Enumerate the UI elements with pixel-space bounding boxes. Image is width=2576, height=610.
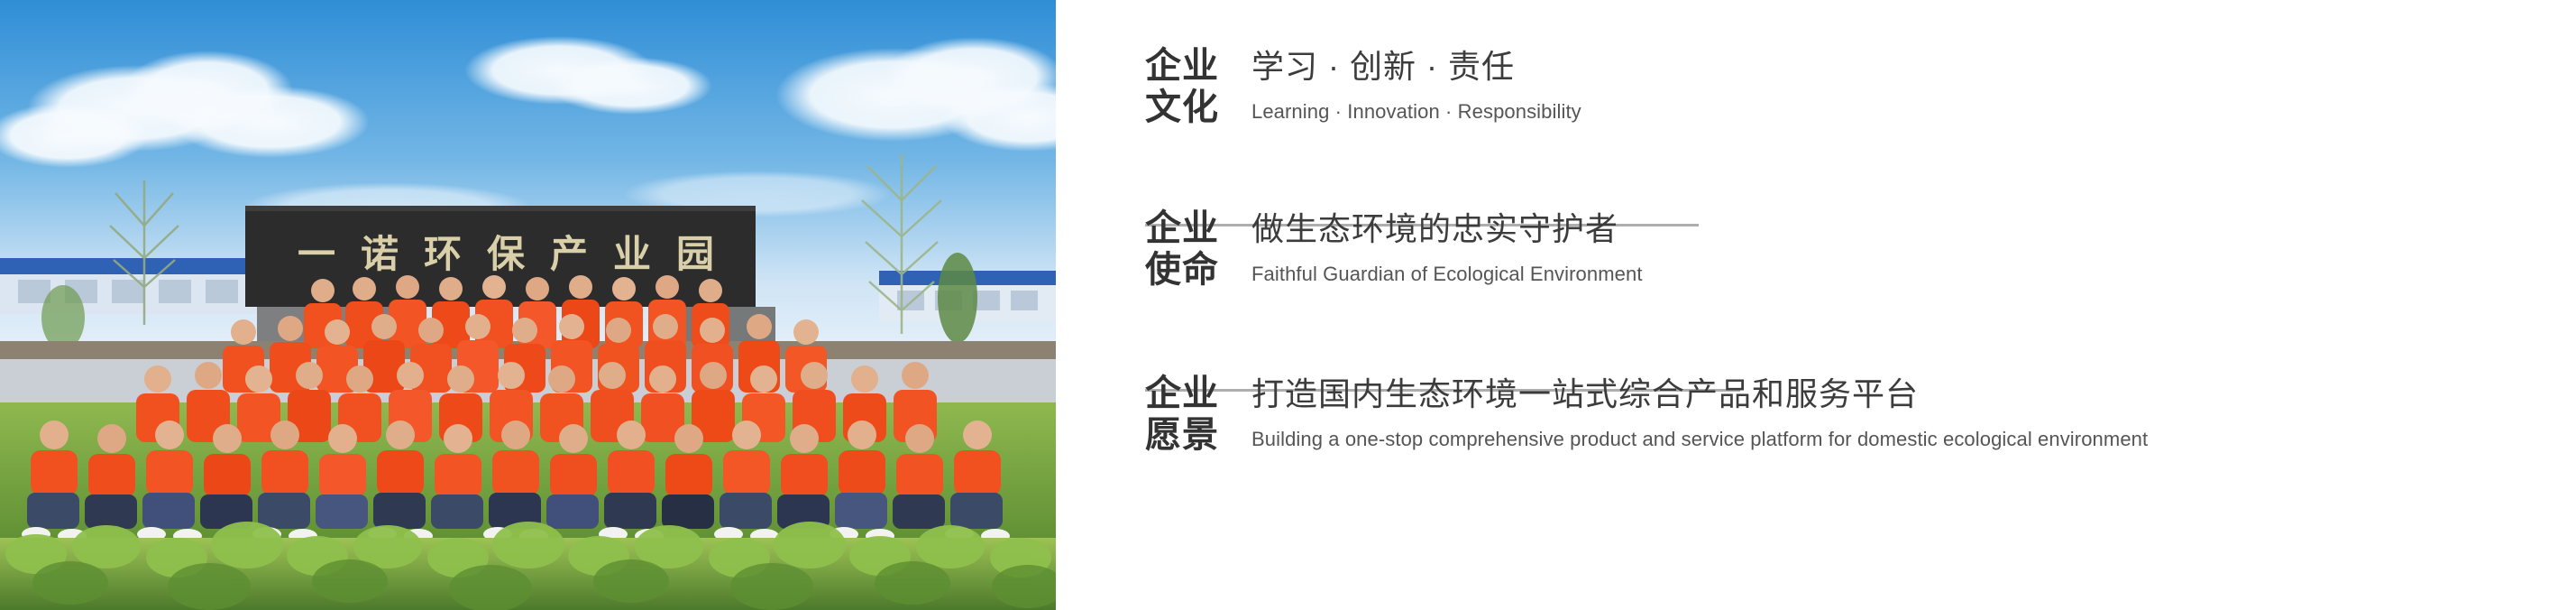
- culture-mission-vision-panel: 企业 文化 学习 · 创新 · 责任 Learning · Innovation…: [1056, 0, 2576, 610]
- block-mission-title-cn: 做生态环境的忠实守护者: [1251, 209, 1643, 249]
- block-mission-label-line1: 企业: [1145, 208, 1251, 249]
- block-vision-label-line2: 愿景: [1145, 414, 1251, 456]
- block-culture: 企业 文化 学习 · 创新 · 责任 Learning · Innovation…: [1145, 45, 1581, 128]
- block-vision-body: 打造国内生态环境一站式综合产品和服务平台 Building a one-stop…: [1251, 373, 2148, 453]
- svg-text:业: 业: [613, 232, 651, 276]
- block-vision: 企业 愿景 打造国内生态环境一站式综合产品和服务平台 Building a on…: [1145, 373, 2148, 456]
- company-culture-banner: 一 诺 环 保 产 业 园: [0, 0, 2576, 610]
- svg-text:环: 环: [424, 232, 462, 276]
- svg-text:诺: 诺: [361, 232, 399, 276]
- svg-text:保: 保: [487, 232, 526, 276]
- company-group-photo: 一 诺 环 保 产 业 园: [0, 0, 1056, 610]
- block-culture-label: 企业 文化: [1145, 45, 1251, 128]
- block-mission-label: 企业 使命: [1145, 208, 1251, 291]
- svg-text:产: 产: [550, 232, 588, 276]
- block-culture-title-en: Learning · Innovation · Responsibility: [1251, 98, 1581, 125]
- block-vision-title-en: Building a one-stop comprehensive produc…: [1251, 426, 2148, 453]
- block-mission-body: 做生态环境的忠实守护者 Faithful Guardian of Ecologi…: [1251, 208, 1643, 288]
- block-vision-label-line1: 企业: [1145, 373, 1251, 414]
- block-vision-title-cn: 打造国内生态环境一站式综合产品和服务平台: [1251, 374, 2148, 414]
- group-photo-illustration: 一 诺 环 保 产 业 园: [0, 0, 1056, 610]
- block-culture-label-line2: 文化: [1145, 87, 1251, 128]
- block-culture-body: 学习 · 创新 · 责任 Learning · Innovation · Res…: [1251, 45, 1581, 125]
- block-vision-label: 企业 愿景: [1145, 373, 1251, 456]
- svg-text:园: 园: [676, 232, 714, 276]
- block-mission-title-en: Faithful Guardian of Ecological Environm…: [1251, 261, 1643, 288]
- block-mission-label-line2: 使命: [1145, 249, 1251, 291]
- block-culture-label-line1: 企业: [1145, 45, 1251, 87]
- block-mission: 企业 使命 做生态环境的忠实守护者 Faithful Guardian of E…: [1145, 208, 1643, 291]
- svg-text:一: 一: [298, 232, 335, 276]
- block-culture-title-cn: 学习 · 创新 · 责任: [1251, 47, 1581, 87]
